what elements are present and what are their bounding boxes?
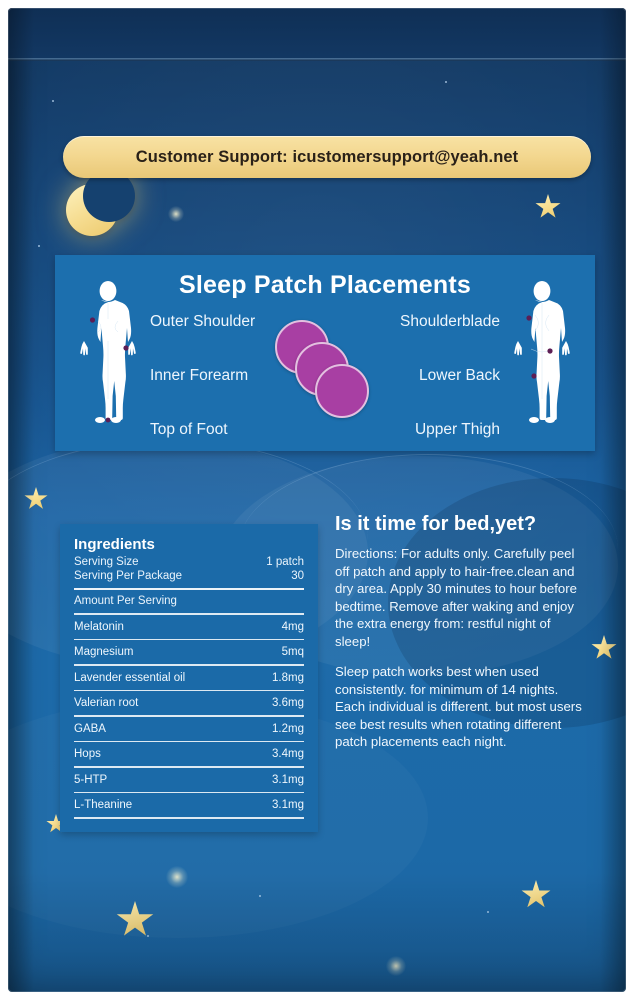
star-icon — [116, 901, 154, 939]
customer-support-banner[interactable]: Customer Support: icustomersupport@yeah.… — [63, 136, 591, 178]
divider — [74, 690, 304, 692]
ingredient-name: Lavender essential oil — [74, 672, 185, 684]
ingredient-row: L-Theanine 3.1mg — [74, 796, 304, 814]
top-seal-band — [8, 8, 626, 58]
divider — [74, 588, 304, 590]
star-icon — [521, 880, 551, 910]
star-icon — [591, 635, 617, 661]
ingredient-row: 5-HTP 3.1mg — [74, 771, 304, 789]
star-icon — [24, 487, 48, 511]
star-dot — [445, 81, 447, 83]
ingredient-name: Melatonin — [74, 621, 124, 633]
divider — [74, 741, 304, 743]
directions-section: Is it time for bed,yet? Directions: For … — [335, 513, 587, 764]
placement-label-upper-thigh: Upper Thigh — [415, 421, 500, 439]
serving-size-value: 1 patch — [266, 556, 304, 568]
pouch-front: Customer Support: icustomersupport@yeah.… — [8, 8, 626, 992]
divider — [74, 664, 304, 666]
directions-title: Is it time for bed,yet? — [335, 513, 587, 536]
divider — [74, 639, 304, 641]
placement-label-inner-forearm: Inner Forearm — [150, 367, 248, 385]
ingredient-name: Magnesium — [74, 646, 133, 658]
directions-paragraph-2: Sleep patch works best when used consist… — [335, 663, 587, 751]
serving-per-package-label: Serving Per Package — [74, 570, 182, 582]
ingredient-amount: 4mg — [282, 621, 304, 633]
star-dot — [52, 100, 54, 102]
ingredient-row: Valerian root 3.6mg — [74, 694, 304, 712]
ingredient-row: Lavender essential oil 1.8mg — [74, 669, 304, 687]
divider — [74, 613, 304, 615]
patch-circle — [315, 364, 369, 418]
placement-label-top-of-foot: Top of Foot — [150, 421, 228, 439]
divider — [74, 817, 304, 819]
ingredient-row: Magnesium 5mq — [74, 643, 304, 661]
star-icon — [535, 194, 561, 220]
serving-per-package-row: Serving Per Package 30 — [74, 569, 304, 583]
ingredient-name: GABA — [74, 723, 106, 735]
star-dot — [38, 245, 40, 247]
patch-illustration — [275, 320, 371, 416]
ingredient-amount: 3.6mg — [272, 697, 304, 709]
ingredient-name: Hops — [74, 748, 101, 760]
placement-label-outer-shoulder: Outer Shoulder — [150, 313, 255, 331]
directions-paragraph-1: Directions: For adults only. Carefully p… — [335, 545, 587, 650]
divider — [74, 766, 304, 768]
star-dot — [259, 895, 261, 897]
amount-per-serving-label: Amount Per Serving — [74, 593, 304, 610]
twinkle — [168, 206, 184, 222]
ingredient-row: GABA 1.2mg — [74, 720, 304, 738]
divider — [74, 715, 304, 717]
divider — [74, 792, 304, 794]
serving-size-row: Serving Size 1 patch — [74, 555, 304, 569]
ingredient-amount: 3.1mg — [272, 799, 304, 811]
star-dot — [147, 935, 149, 937]
edge-shading-left — [8, 8, 34, 992]
ingredient-amount: 3.1mg — [272, 774, 304, 786]
ingredient-amount: 3.4mg — [272, 748, 304, 760]
twinkle — [386, 956, 406, 976]
ingredient-name: 5-HTP — [74, 774, 107, 786]
star-dot — [487, 911, 489, 913]
serving-per-package-value: 30 — [291, 570, 304, 582]
ingredient-name: L-Theanine — [74, 799, 132, 811]
product-package: Customer Support: icustomersupport@yeah.… — [0, 0, 634, 1000]
ingredient-amount: 1.2mg — [272, 723, 304, 735]
seal-seam-line — [8, 58, 626, 61]
placement-label-lower-back: Lower Back — [419, 367, 500, 385]
crescent-moon-icon — [66, 184, 118, 236]
ingredient-amount: 1.8mg — [272, 672, 304, 684]
edge-shading-right — [600, 8, 626, 992]
twinkle — [166, 866, 188, 888]
placement-label-shoulderblade: Shoulderblade — [400, 313, 500, 331]
ingredient-name: Valerian root — [74, 697, 138, 709]
ingredient-amount: 5mq — [282, 646, 304, 658]
ingredients-title: Ingredients — [74, 536, 304, 553]
customer-support-text: Customer Support: icustomersupport@yeah.… — [136, 148, 519, 167]
ingredient-row: Hops 3.4mg — [74, 745, 304, 763]
ingredient-row: Melatonin 4mg — [74, 618, 304, 636]
serving-size-label: Serving Size — [74, 556, 139, 568]
ingredients-panel: Ingredients Serving Size 1 patch Serving… — [60, 524, 318, 832]
